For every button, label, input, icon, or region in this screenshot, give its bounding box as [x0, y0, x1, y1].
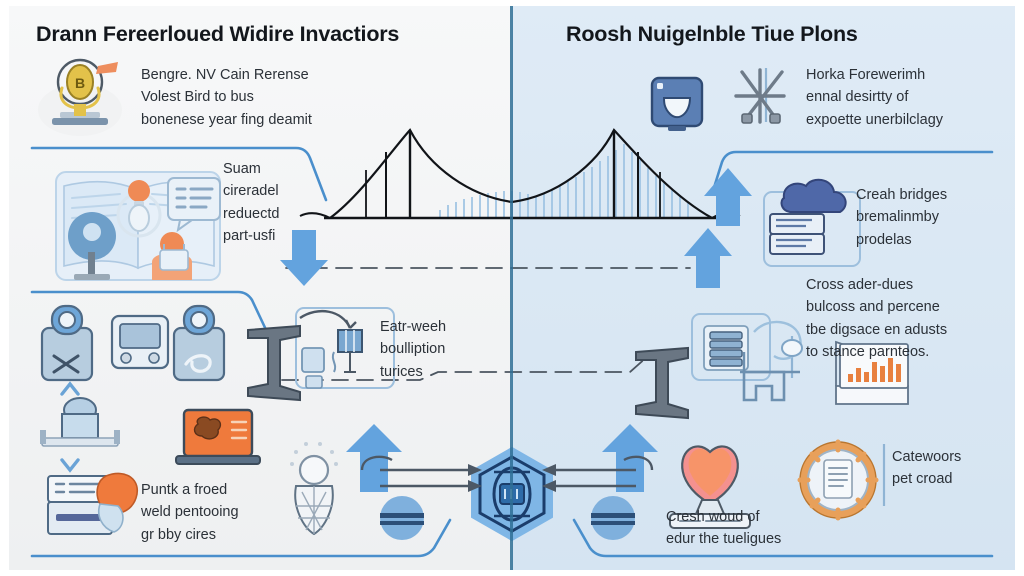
canvas-left-margin: [0, 0, 9, 576]
panel-divider: [510, 0, 513, 576]
right-bottom-note: Cresh woud of edur the tueligues: [666, 506, 856, 551]
arrow-up-right-upper[interactable]: [704, 168, 752, 226]
left-top-note: Bengre. NV Cain Rerense Volest Bird to b…: [141, 64, 391, 131]
canvas-bottom-margin: [0, 570, 1024, 576]
canvas-right-margin: [1015, 0, 1024, 576]
arrow-up-right-lower[interactable]: [684, 228, 732, 288]
right-panel-title: Roosh Nuigelnble Tiue Plons: [566, 22, 858, 47]
arrow-into-hub-right-heads: [542, 464, 556, 492]
chevron-up-icon: [62, 384, 78, 394]
infographic-canvas: B: [0, 0, 1024, 576]
left-center-note: Eatr-weeh boulliption turices: [380, 316, 500, 383]
right-top-note: Horka Forewerimh ennal desirtty of expoe…: [806, 64, 1006, 131]
left-bottom-note: Puntk a froed weld pentooing gr bby cire…: [141, 479, 301, 546]
left-panel-title: Drann Fereerloued Widire Invactiors: [36, 22, 399, 47]
right-side-note: Catewoors pet croad: [892, 446, 1022, 491]
chevron-down-icon: [62, 460, 78, 470]
right-upper-note: Creah bridges bremalinmby prodelas: [856, 184, 1016, 251]
left-mid-note: Suam cireradel reduectd part-usfi: [223, 158, 323, 248]
arrow-into-hub-left-heads: [468, 464, 482, 492]
canvas-top-margin: [0, 0, 1024, 6]
right-mid-note: Cross ader-dues bulcoss and percene tbe …: [806, 274, 1011, 364]
